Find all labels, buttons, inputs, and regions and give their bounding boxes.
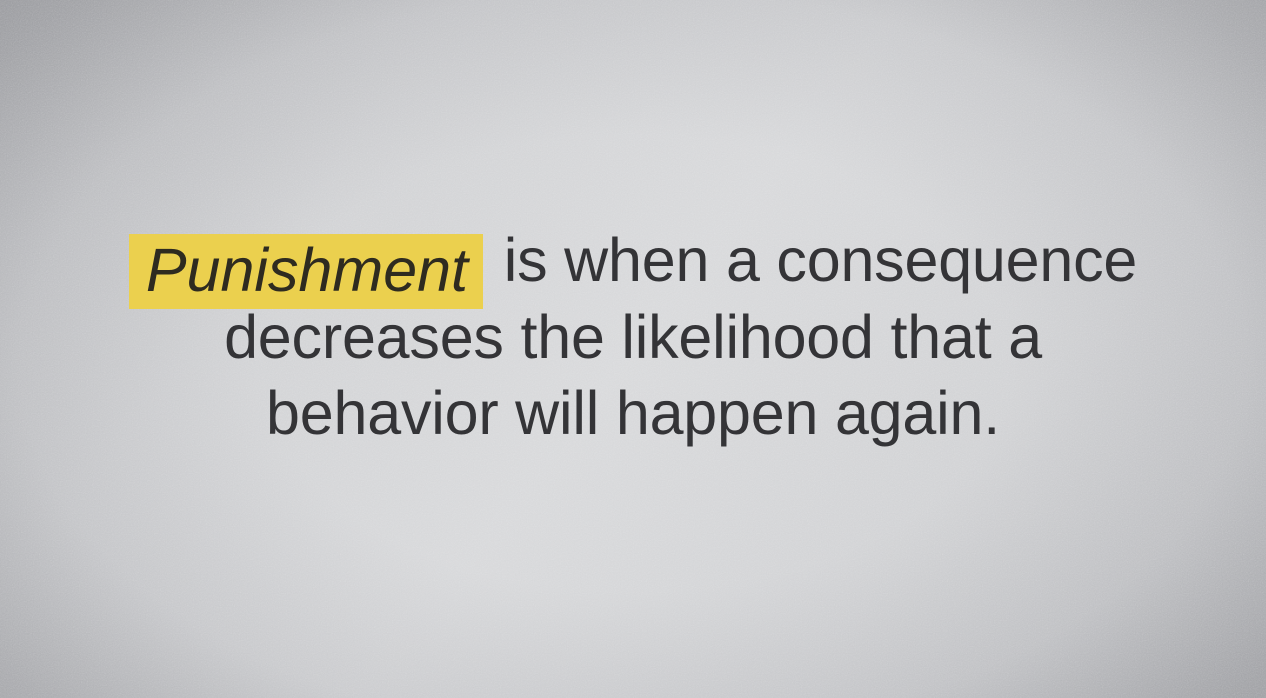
definition-text-block: Punishment is when a consequence decreas… xyxy=(78,222,1188,451)
definition-line-2: decreases the likelihood that a xyxy=(78,299,1188,375)
highlighted-term-punishment: Punishment xyxy=(129,234,483,309)
slide-canvas: Punishment is when a consequence decreas… xyxy=(0,0,1266,698)
definition-line-1-rest: is when a consequence xyxy=(487,226,1137,294)
definition-line-1: Punishment is when a consequence xyxy=(78,222,1188,299)
definition-line-3: behavior will happen again. xyxy=(78,375,1188,451)
caption-content-area: Punishment is when a consequence decreas… xyxy=(0,0,1266,698)
